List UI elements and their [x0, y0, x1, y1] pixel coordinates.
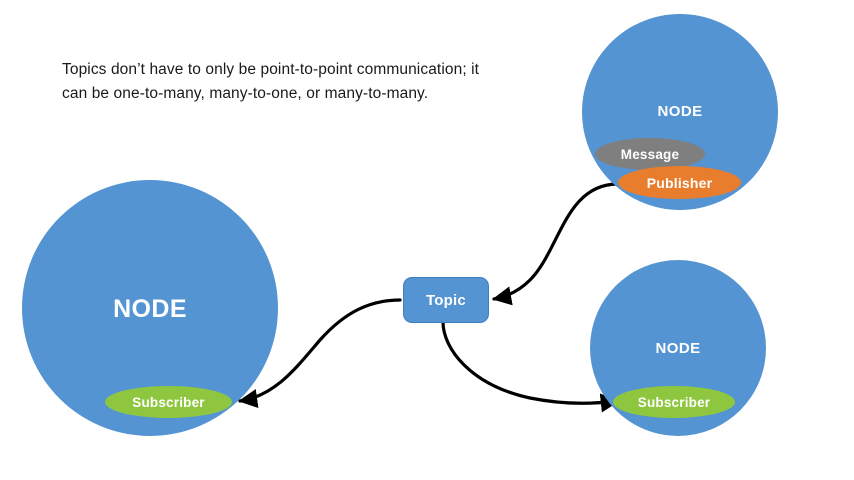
diagram-canvas: Topics don’t have to only be point-to-po…: [0, 0, 854, 480]
topic-label: Topic: [426, 292, 466, 309]
publisher-badge[interactable]: Publisher: [618, 166, 741, 199]
topic-box[interactable]: Topic: [403, 277, 489, 323]
caption-text: Topics don’t have to only be point-to-po…: [62, 58, 482, 106]
node-top-right-label: NODE: [582, 103, 778, 120]
node-left-label: NODE: [22, 295, 278, 324]
node-bottom-right-label: NODE: [590, 340, 766, 357]
subscriber-badge-left[interactable]: Subscriber: [105, 386, 232, 418]
subscriber-badge-right[interactable]: Subscriber: [613, 386, 735, 418]
connector-publisher-to-topic: [494, 184, 618, 299]
